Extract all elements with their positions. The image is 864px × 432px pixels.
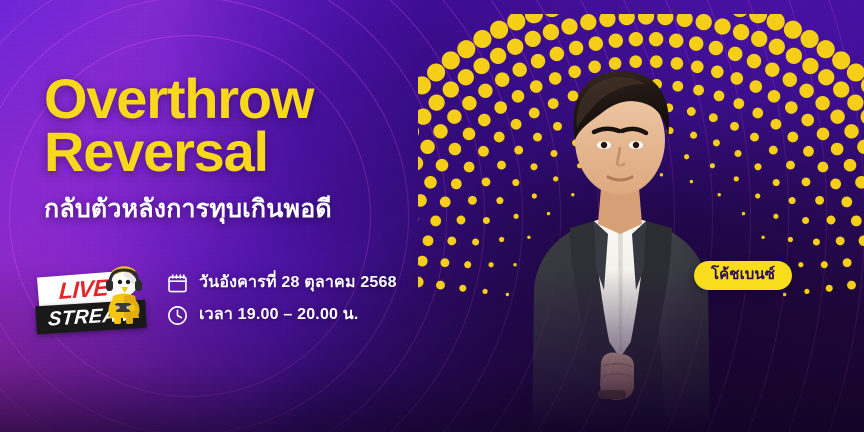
subtitle: กลับตัวหลังการทุบเกินพอดี (44, 196, 444, 224)
title-line-2: Reversal (44, 125, 444, 178)
schedule-item-date: วันอังคารที่ 28 ตุลาคม 2568 (166, 272, 397, 295)
page-title: Overthrow Reversal (44, 72, 444, 178)
live-stream-badge: LIVE STREAM (34, 258, 152, 338)
speaker-name-badge: โค้ชเบนซ์ (694, 261, 792, 290)
schedule-item-time: เวลา 19.00 – 20.00 น. (166, 304, 397, 327)
headline-block: Overthrow Reversal กลับตัวหลังการทุบเกิน… (44, 72, 444, 224)
schedule-time-text: เวลา 19.00 – 20.00 น. (199, 307, 359, 323)
schedule-list: วันอังคารที่ 28 ตุลาคม 2568 เวลา 19.00 –… (166, 270, 397, 327)
live-stream-promo-banner: โค้ชเบนซ์ Overthrow Reversal กลับตัวหลัง… (0, 0, 864, 432)
eagle-gamer-mascot-icon (94, 258, 152, 324)
schedule-date-text: วันอังคารที่ 28 ตุลาคม 2568 (199, 275, 397, 291)
event-info-row: LIVE STREAM (34, 258, 397, 338)
clock-icon (166, 304, 189, 327)
calendar-icon (166, 272, 189, 295)
